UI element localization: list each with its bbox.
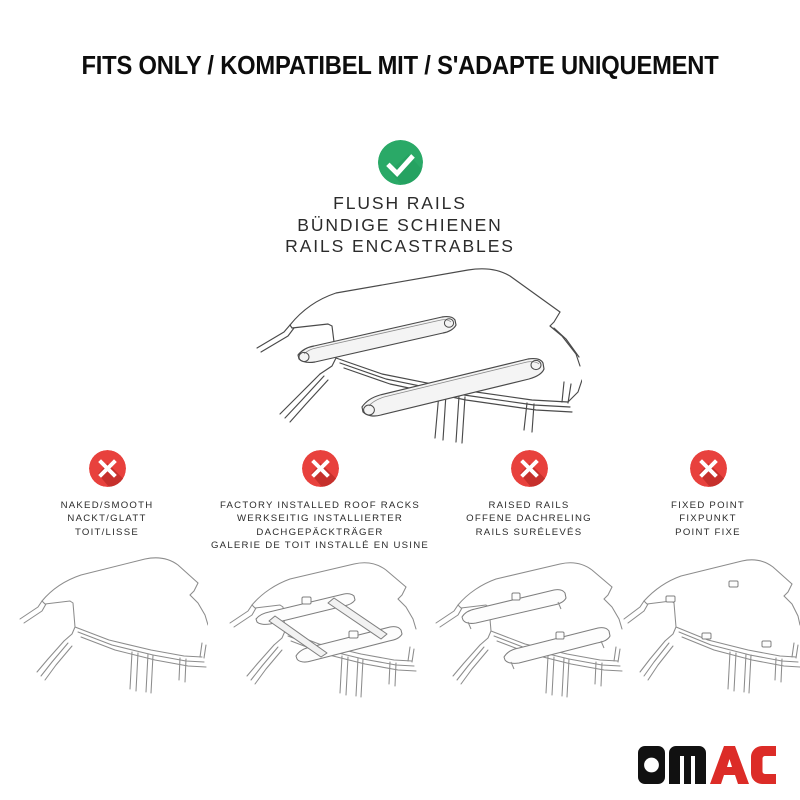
car-roof-raised-rails-illustration <box>424 553 624 698</box>
label-line-fr: RAILS SURÉLEVÉS <box>434 526 624 539</box>
x-circle-icon <box>511 450 548 487</box>
compatible-label-line-de: BÜNDIGE SCHIENEN <box>0 215 800 237</box>
car-roof-naked-illustration <box>12 553 208 698</box>
label-line-fr: POINT FIXE <box>616 526 800 539</box>
car-roof-factory-rack-illustration <box>218 553 422 698</box>
label-line-de-2: DACHGEPÄCKTRÄGER <box>196 526 444 539</box>
x-circle-icon <box>302 450 339 487</box>
compatible-section: FLUSH RAILS BÜNDIGE SCHIENEN RAILS ENCAS… <box>0 140 800 258</box>
check-badge-wrap <box>378 140 423 185</box>
incompatible-label-fixed-point: FIXED POINT FIXPUNKT POINT FIXE <box>616 499 800 539</box>
label-line-en: NAKED/SMOOTH <box>8 499 206 512</box>
label-line-en: RAISED RAILS <box>434 499 624 512</box>
incompatible-item-raised-rails: RAISED RAILS OFFENE DACHRELING RAILS SUR… <box>434 450 624 539</box>
label-line-fr: GALERIE DE TOIT INSTALLÉ EN USINE <box>196 539 444 552</box>
compatible-label: FLUSH RAILS BÜNDIGE SCHIENEN RAILS ENCAS… <box>0 193 800 258</box>
car-roof-fixed-point-illustration <box>618 553 800 698</box>
label-line-de: NACKT/GLATT <box>8 512 206 525</box>
car-roof-flush-rails-illustration <box>232 262 582 447</box>
check-circle-icon <box>378 140 423 185</box>
x-badge-wrap-0 <box>89 450 126 487</box>
label-line-de: OFFENE DACHRELING <box>434 512 624 525</box>
omac-logo: OMAC <box>634 746 776 784</box>
incompatible-label-naked: NAKED/SMOOTH NACKT/GLATT TOIT/LISSE <box>8 499 206 539</box>
compatible-label-line-fr: RAILS ENCASTRABLES <box>0 236 800 258</box>
incompatible-label-factory-rack: FACTORY INSTALLED ROOF RACKS WERKSEITIG … <box>196 499 444 552</box>
label-line-de-1: WERKSEITIG INSTALLIERTER <box>196 512 444 525</box>
x-badge-wrap-1 <box>302 450 339 487</box>
label-line-en: FACTORY INSTALLED ROOF RACKS <box>196 499 444 512</box>
incompatible-item-factory-rack: FACTORY INSTALLED ROOF RACKS WERKSEITIG … <box>196 450 444 552</box>
x-circle-icon <box>690 450 727 487</box>
label-line-en: FIXED POINT <box>616 499 800 512</box>
x-badge-wrap-3 <box>690 450 727 487</box>
incompatible-item-fixed-point: FIXED POINT FIXPUNKT POINT FIXE <box>616 450 800 539</box>
compatible-label-line-en: FLUSH RAILS <box>0 193 800 215</box>
omac-logo-text: OMAC <box>634 784 635 785</box>
x-badge-wrap-2 <box>511 450 548 487</box>
incompatible-item-naked: NAKED/SMOOTH NACKT/GLATT TOIT/LISSE <box>8 450 206 539</box>
label-line-de: FIXPUNKT <box>616 512 800 525</box>
page-title: FITS ONLY / KOMPATIBEL MIT / S'ADAPTE UN… <box>28 52 772 81</box>
incompatible-section: NAKED/SMOOTH NACKT/GLATT TOIT/LISSE <box>0 450 800 710</box>
header: FITS ONLY / KOMPATIBEL MIT / S'ADAPTE UN… <box>0 52 800 81</box>
incompatible-label-raised-rails: RAISED RAILS OFFENE DACHRELING RAILS SUR… <box>434 499 624 539</box>
x-circle-icon <box>89 450 126 487</box>
label-line-fr: TOIT/LISSE <box>8 526 206 539</box>
